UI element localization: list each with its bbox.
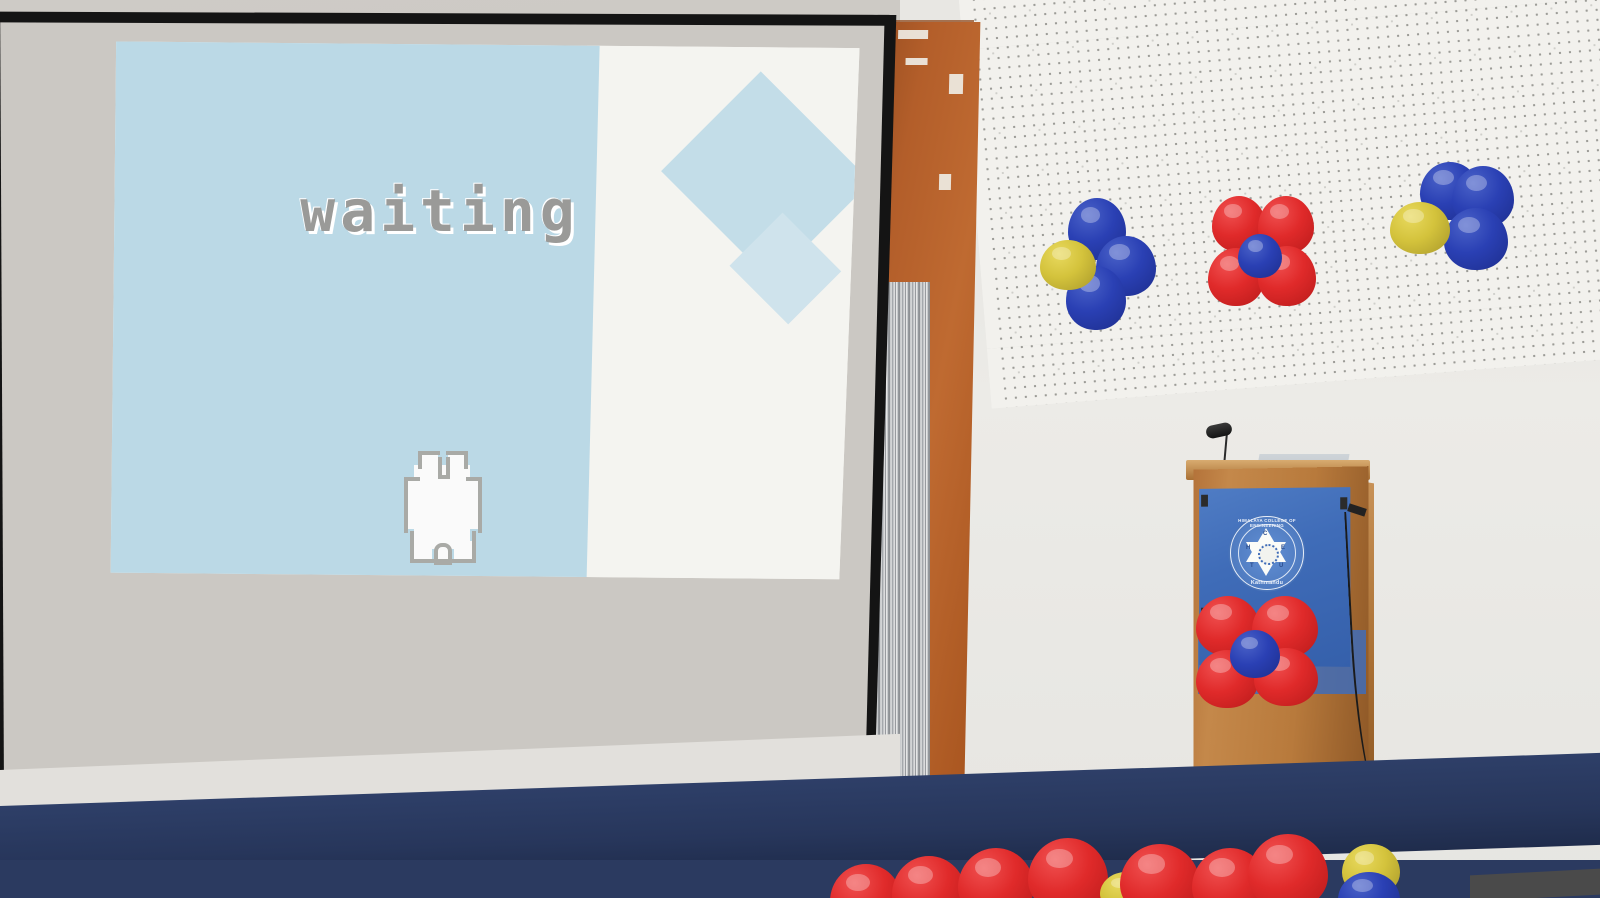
seal-letter-t: T <box>1250 563 1254 569</box>
seal-letter-u: U <box>1279 563 1283 569</box>
seal-letter-c: C <box>1263 531 1267 537</box>
wall-cluster-red-mid <box>1208 196 1318 308</box>
podium-cluster-red <box>1196 596 1324 708</box>
wall-cluster-blue-right <box>1390 162 1535 274</box>
gear-icon <box>1258 544 1279 565</box>
seal-bottom-text: Kathmandu <box>1232 580 1302 586</box>
seal-letter-h: H <box>1246 545 1250 551</box>
pixel-bunny-sprite <box>396 447 516 595</box>
projection-screen: waiting <box>0 0 900 820</box>
scene-photo: waiting <box>0 0 1600 898</box>
seal-letter-e: E <box>1281 545 1285 551</box>
wall-cluster-blue-left <box>1040 198 1155 328</box>
seal-ring-text: HIMALAYA COLLEGE OF ENGINEERING <box>1232 518 1302 528</box>
slide-title-text: waiting <box>0 177 900 245</box>
